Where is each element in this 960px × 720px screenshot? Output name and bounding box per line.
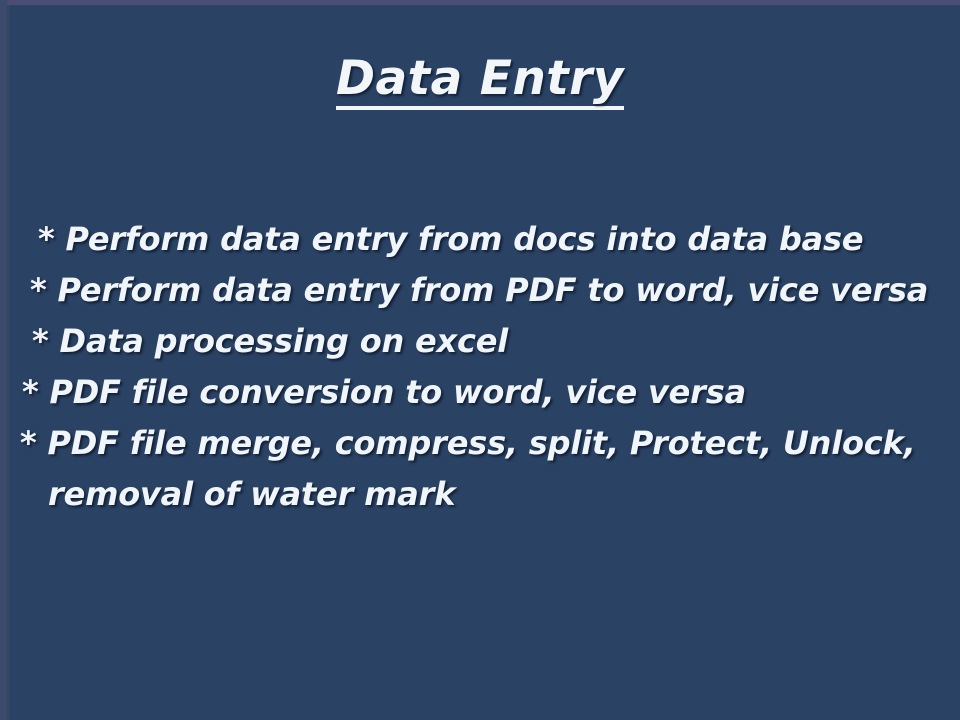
bullet-item-4: * PDF file conversion to word, vice vers… <box>0 367 960 418</box>
slide-top-accent-band <box>0 0 960 5</box>
slide-title: Data Entry <box>336 54 624 110</box>
slide-bullet-list: * Perform data entry from docs into data… <box>0 214 960 520</box>
bullet-item-3: * Data processing on excel <box>0 316 960 367</box>
bullet-item-2: * Perform data entry from PDF to word, v… <box>0 265 960 316</box>
bullet-item-5-continuation: removal of water mark <box>0 469 960 520</box>
bullet-item-5: * PDF file merge, compress, split, Prote… <box>0 418 960 469</box>
bullet-item-1: * Perform data entry from docs into data… <box>0 214 960 265</box>
presentation-slide: Data Entry * Perform data entry from doc… <box>0 0 960 720</box>
slide-title-container: Data Entry <box>0 54 960 110</box>
